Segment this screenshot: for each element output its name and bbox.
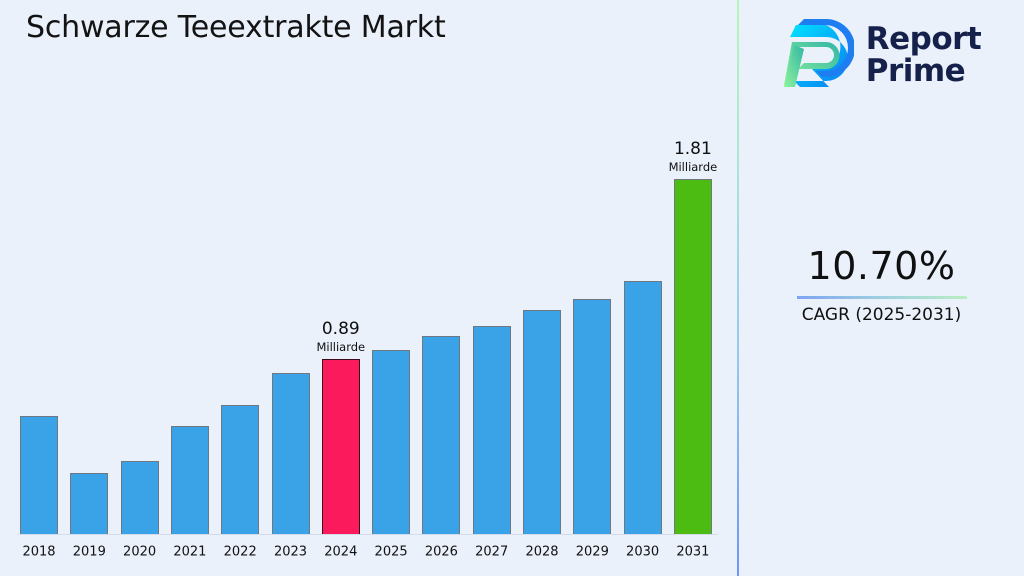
- cagr-caption: CAGR (2025-2031): [739, 305, 1024, 325]
- x-tick-label-2021: 2021: [173, 545, 206, 560]
- chart-infographic: Schwarze Teeextrakte Markt 0.89Milliarde…: [0, 0, 1024, 576]
- bar-rect-2030[interactable]: [624, 281, 662, 534]
- bar-rect-2022[interactable]: [221, 405, 259, 534]
- bar-2021[interactable]: [171, 426, 209, 534]
- x-tick-label-2030: 2030: [626, 545, 659, 560]
- cagr-block: 10.70% CAGR (2025-2031): [739, 246, 1024, 325]
- x-tick-label-2019: 2019: [73, 545, 106, 560]
- bar-2023[interactable]: [272, 373, 310, 534]
- x-tick-label-2029: 2029: [576, 545, 609, 560]
- bar-value-number-2031: 1.81: [669, 141, 718, 159]
- x-tick-label-2024: 2024: [324, 545, 357, 560]
- bar-2024[interactable]: 0.89Milliarde: [322, 359, 360, 534]
- bar-2030[interactable]: [624, 281, 662, 534]
- bar-2020[interactable]: [121, 461, 159, 534]
- bar-rect-2024[interactable]: [322, 359, 360, 534]
- brand-logo: Report Prime: [739, 12, 1024, 100]
- bar-rect-2020[interactable]: [121, 461, 159, 534]
- x-tick-label-2026: 2026: [425, 545, 458, 560]
- bar-2026[interactable]: [422, 336, 460, 534]
- bar-value-number-2024: 0.89: [316, 321, 365, 339]
- logo-line-2: Prime: [866, 56, 982, 88]
- bar-rect-2021[interactable]: [171, 426, 209, 534]
- bar-rect-2029[interactable]: [573, 299, 611, 534]
- logo-line-1: Report: [866, 24, 982, 56]
- bar-rect-2026[interactable]: [422, 336, 460, 534]
- bar-rect-2028[interactable]: [523, 310, 561, 534]
- bar-2029[interactable]: [573, 299, 611, 534]
- x-axis-baseline: [18, 534, 718, 535]
- cagr-value: 10.70%: [739, 246, 1024, 288]
- bar-2028[interactable]: [523, 310, 561, 534]
- x-tick-label-2028: 2028: [525, 545, 558, 560]
- bar-rect-2027[interactable]: [473, 326, 511, 534]
- x-tick-label-2020: 2020: [123, 545, 156, 560]
- bar-rect-2031[interactable]: [674, 179, 712, 534]
- bar-2018[interactable]: [20, 416, 58, 534]
- bar-rect-2019[interactable]: [70, 473, 108, 534]
- bar-2031[interactable]: 1.81Milliarde: [674, 179, 712, 534]
- x-tick-label-2027: 2027: [475, 545, 508, 560]
- chart-title: Schwarze Teeextrakte Markt: [26, 10, 446, 45]
- chart-panel: Schwarze Teeextrakte Markt 0.89Milliarde…: [0, 0, 737, 576]
- bar-rect-2025[interactable]: [372, 350, 410, 534]
- x-tick-label-2023: 2023: [274, 545, 307, 560]
- right-panel: Report Prime 10.70% CAGR (2025-2031): [739, 0, 1024, 576]
- bar-2019[interactable]: [70, 473, 108, 534]
- bar-2025[interactable]: [372, 350, 410, 534]
- bar-2027[interactable]: [473, 326, 511, 534]
- bar-rect-2018[interactable]: [20, 416, 58, 534]
- cagr-divider-rule: [797, 296, 967, 299]
- x-tick-label-2031: 2031: [676, 545, 709, 560]
- report-prime-logo-mark-icon: [782, 19, 854, 93]
- x-tick-label-2025: 2025: [375, 545, 408, 560]
- bar-value-unit-2024: Milliarde: [316, 341, 365, 353]
- bar-value-unit-2031: Milliarde: [669, 161, 718, 173]
- plot-area: 0.89Milliarde1.81Milliarde: [0, 120, 737, 576]
- bar-value-label-2024: 0.89Milliarde: [316, 321, 365, 353]
- bar-value-label-2031: 1.81Milliarde: [669, 141, 718, 173]
- logo-wordmark: Report Prime: [866, 24, 982, 87]
- bar-rect-2023[interactable]: [272, 373, 310, 534]
- x-tick-label-2018: 2018: [22, 545, 55, 560]
- bar-2022[interactable]: [221, 405, 259, 534]
- x-tick-label-2022: 2022: [224, 545, 257, 560]
